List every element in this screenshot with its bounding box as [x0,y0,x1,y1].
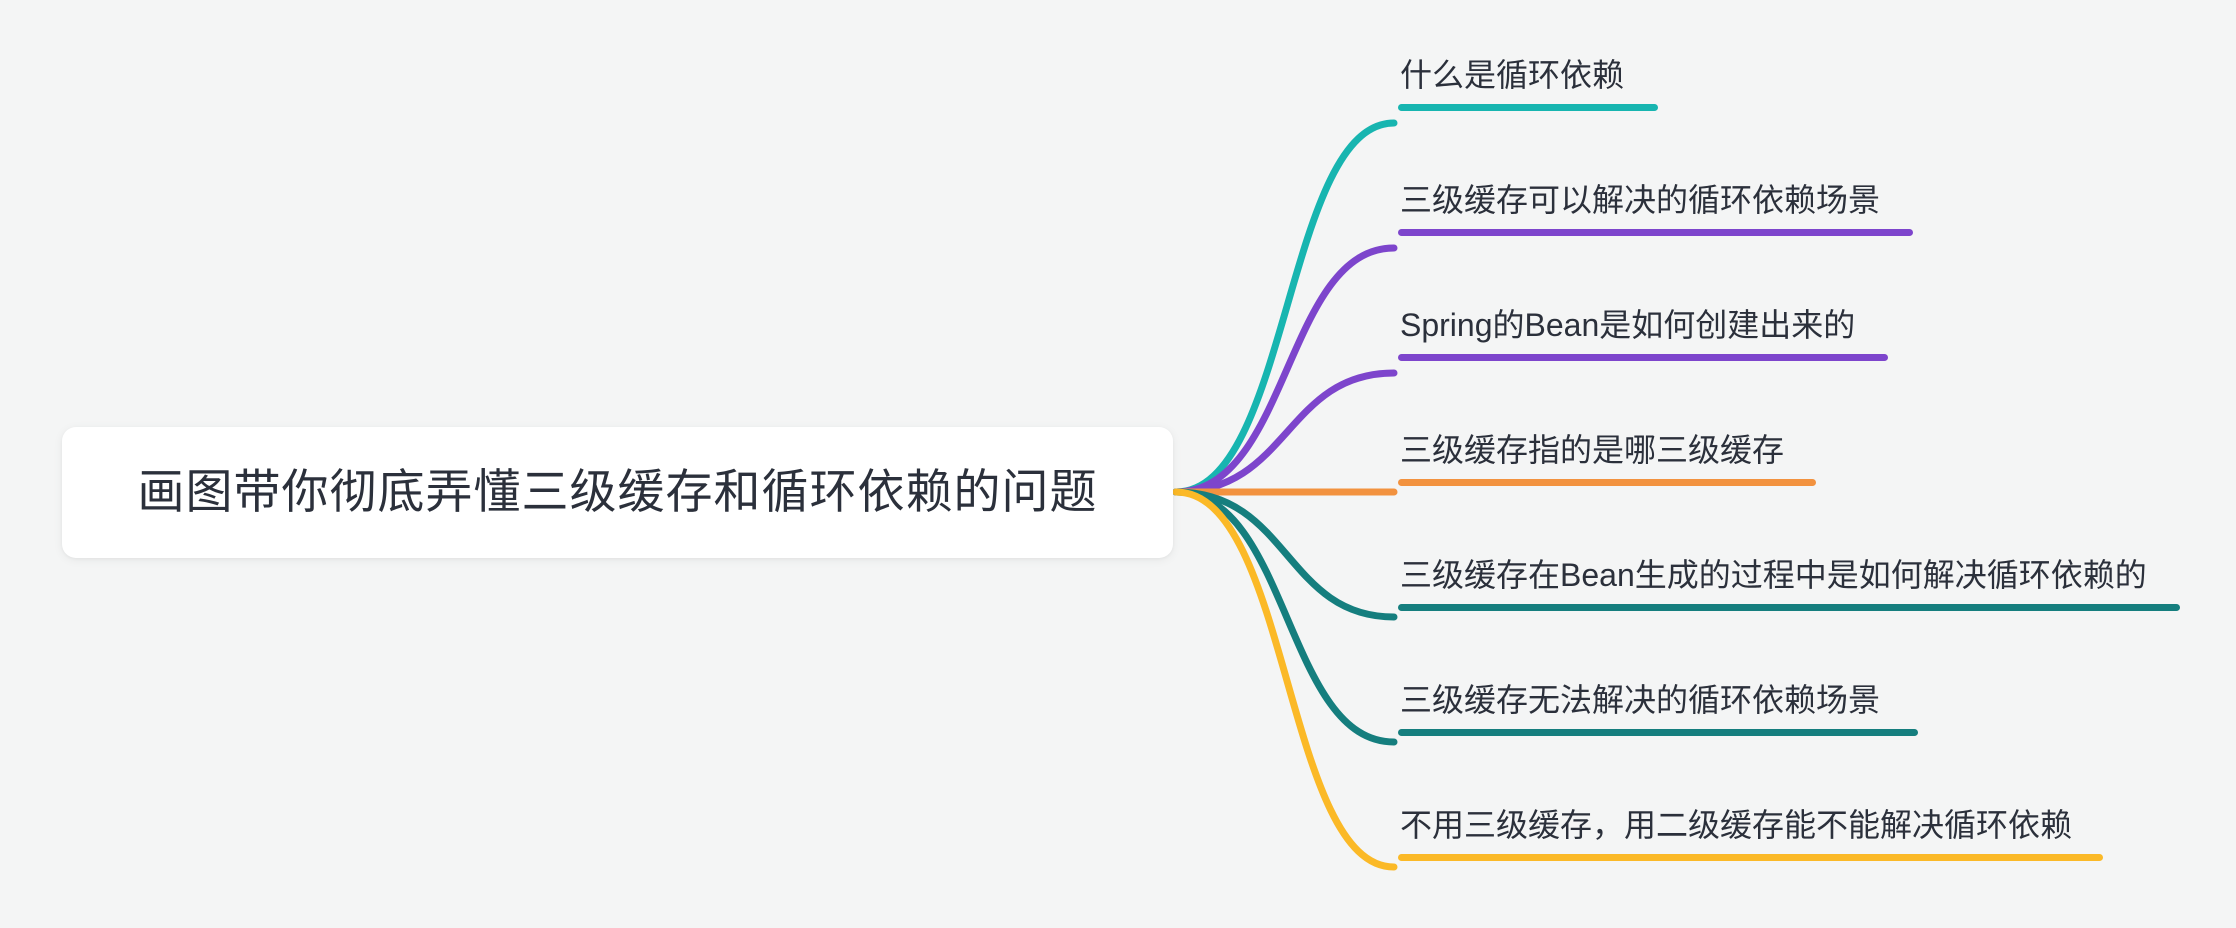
branch-underline-4 [1398,604,2180,611]
branch-label-5: 三级缓存无法解决的循环依赖场景 [1398,680,1882,729]
branch-node-6[interactable]: 不用三级缓存，用二级缓存能不能解决循环依赖 [1398,805,2103,861]
branch-connector-6 [1176,492,1394,867]
branch-underline-3 [1398,479,1816,486]
root-node[interactable]: 画图带你彻底弄懂三级缓存和循环依赖的问题 [62,427,1173,558]
branch-label-0: 什么是循环依赖 [1398,55,1626,104]
branch-label-6: 不用三级缓存，用二级缓存能不能解决循环依赖 [1398,805,2074,854]
branch-node-4[interactable]: 三级缓存在Bean生成的过程中是如何解决循环依赖的 [1398,555,2180,611]
branch-underline-2 [1398,354,1888,361]
branch-connector-2 [1176,373,1394,492]
branch-node-2[interactable]: Spring的Bean是如何创建出来的 [1398,305,1888,361]
branch-connector-0 [1176,123,1394,492]
branch-node-1[interactable]: 三级缓存可以解决的循环依赖场景 [1398,180,1913,236]
branch-underline-1 [1398,229,1913,236]
root-node-title: 画图带你彻底弄懂三级缓存和循环依赖的问题 [138,464,1098,520]
branch-node-0[interactable]: 什么是循环依赖 [1398,55,1658,111]
branch-node-3[interactable]: 三级缓存指的是哪三级缓存 [1398,430,1816,486]
branch-label-2: Spring的Bean是如何创建出来的 [1398,305,1857,354]
branch-underline-6 [1398,854,2103,861]
branch-connector-1 [1176,248,1394,492]
branch-label-4: 三级缓存在Bean生成的过程中是如何解决循环依赖的 [1398,555,2149,604]
branch-label-1: 三级缓存可以解决的循环依赖场景 [1398,180,1882,229]
branch-connector-4 [1176,492,1394,617]
branch-node-5[interactable]: 三级缓存无法解决的循环依赖场景 [1398,680,1918,736]
branch-label-3: 三级缓存指的是哪三级缓存 [1398,430,1786,479]
branch-underline-0 [1398,104,1658,111]
branch-underline-5 [1398,729,1918,736]
mindmap-canvas: 画图带你彻底弄懂三级缓存和循环依赖的问题 什么是循环依赖 三级缓存可以解决的循环… [0,0,2236,928]
branch-connector-5 [1176,492,1394,742]
